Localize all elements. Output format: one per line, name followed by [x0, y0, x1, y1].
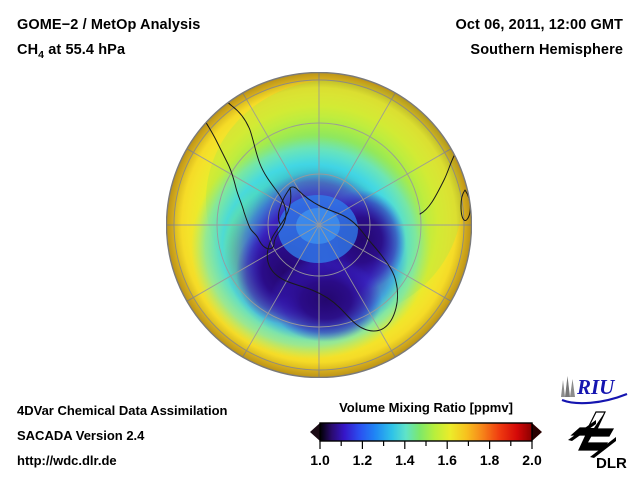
- colorbar: Volume Mixing Ratio [ppmv]: [310, 400, 542, 470]
- colorbar-gradient: [320, 423, 532, 441]
- colorbar-tick-label: 1.8: [480, 452, 500, 468]
- colorbar-ticks: [320, 441, 532, 449]
- colorbar-tick-label: 2.0: [522, 452, 542, 468]
- method-label: 4DVar Chemical Data Assimilation: [17, 403, 228, 418]
- riu-logo-text: RIU: [576, 375, 616, 399]
- polar-map-svg: [166, 72, 472, 378]
- plot-canvas: GOME−2 / MetOp Analysis CH4 at 55.4 hPa …: [0, 0, 640, 480]
- colorbar-tick-label: 1.6: [437, 452, 457, 468]
- species-suffix: at 55.4 hPa: [44, 42, 125, 58]
- colorbar-tick-label: 1.4: [395, 452, 415, 468]
- colorbar-tick-label: 1.0: [310, 452, 330, 468]
- riu-logo: RIU: [558, 371, 630, 405]
- colorbar-svg: 1.0 1.2 1.4 1.6 1.8 2.0: [310, 420, 542, 470]
- limb-shading: [167, 73, 472, 378]
- timestamp-label: Oct 06, 2011, 12:00 GMT: [455, 17, 623, 33]
- colorbar-tick-labels: 1.0 1.2 1.4 1.6 1.8 2.0: [310, 452, 542, 468]
- riu-towers-icon: [561, 376, 575, 397]
- dlr-eagle-icon: [568, 412, 616, 458]
- version-label: SACADA Version 2.4: [17, 428, 144, 443]
- colorbar-tick-label: 1.2: [353, 452, 373, 468]
- colorbar-extend-low: [310, 423, 320, 441]
- species-prefix: CH: [17, 42, 38, 58]
- url-label[interactable]: http://wdc.dlr.de: [17, 453, 117, 468]
- hemisphere-label: Southern Hemisphere: [470, 42, 623, 58]
- colorbar-extend-high: [532, 423, 542, 441]
- page-title: GOME−2 / MetOp Analysis: [17, 17, 200, 33]
- polar-map: [166, 72, 472, 378]
- colorbar-title: Volume Mixing Ratio [ppmv]: [310, 400, 542, 415]
- species-level-label: CH4 at 55.4 hPa: [17, 42, 125, 58]
- dlr-logo: DLR: [566, 410, 634, 472]
- dlr-logo-text: DLR: [596, 455, 627, 472]
- concentration-field: [167, 73, 472, 378]
